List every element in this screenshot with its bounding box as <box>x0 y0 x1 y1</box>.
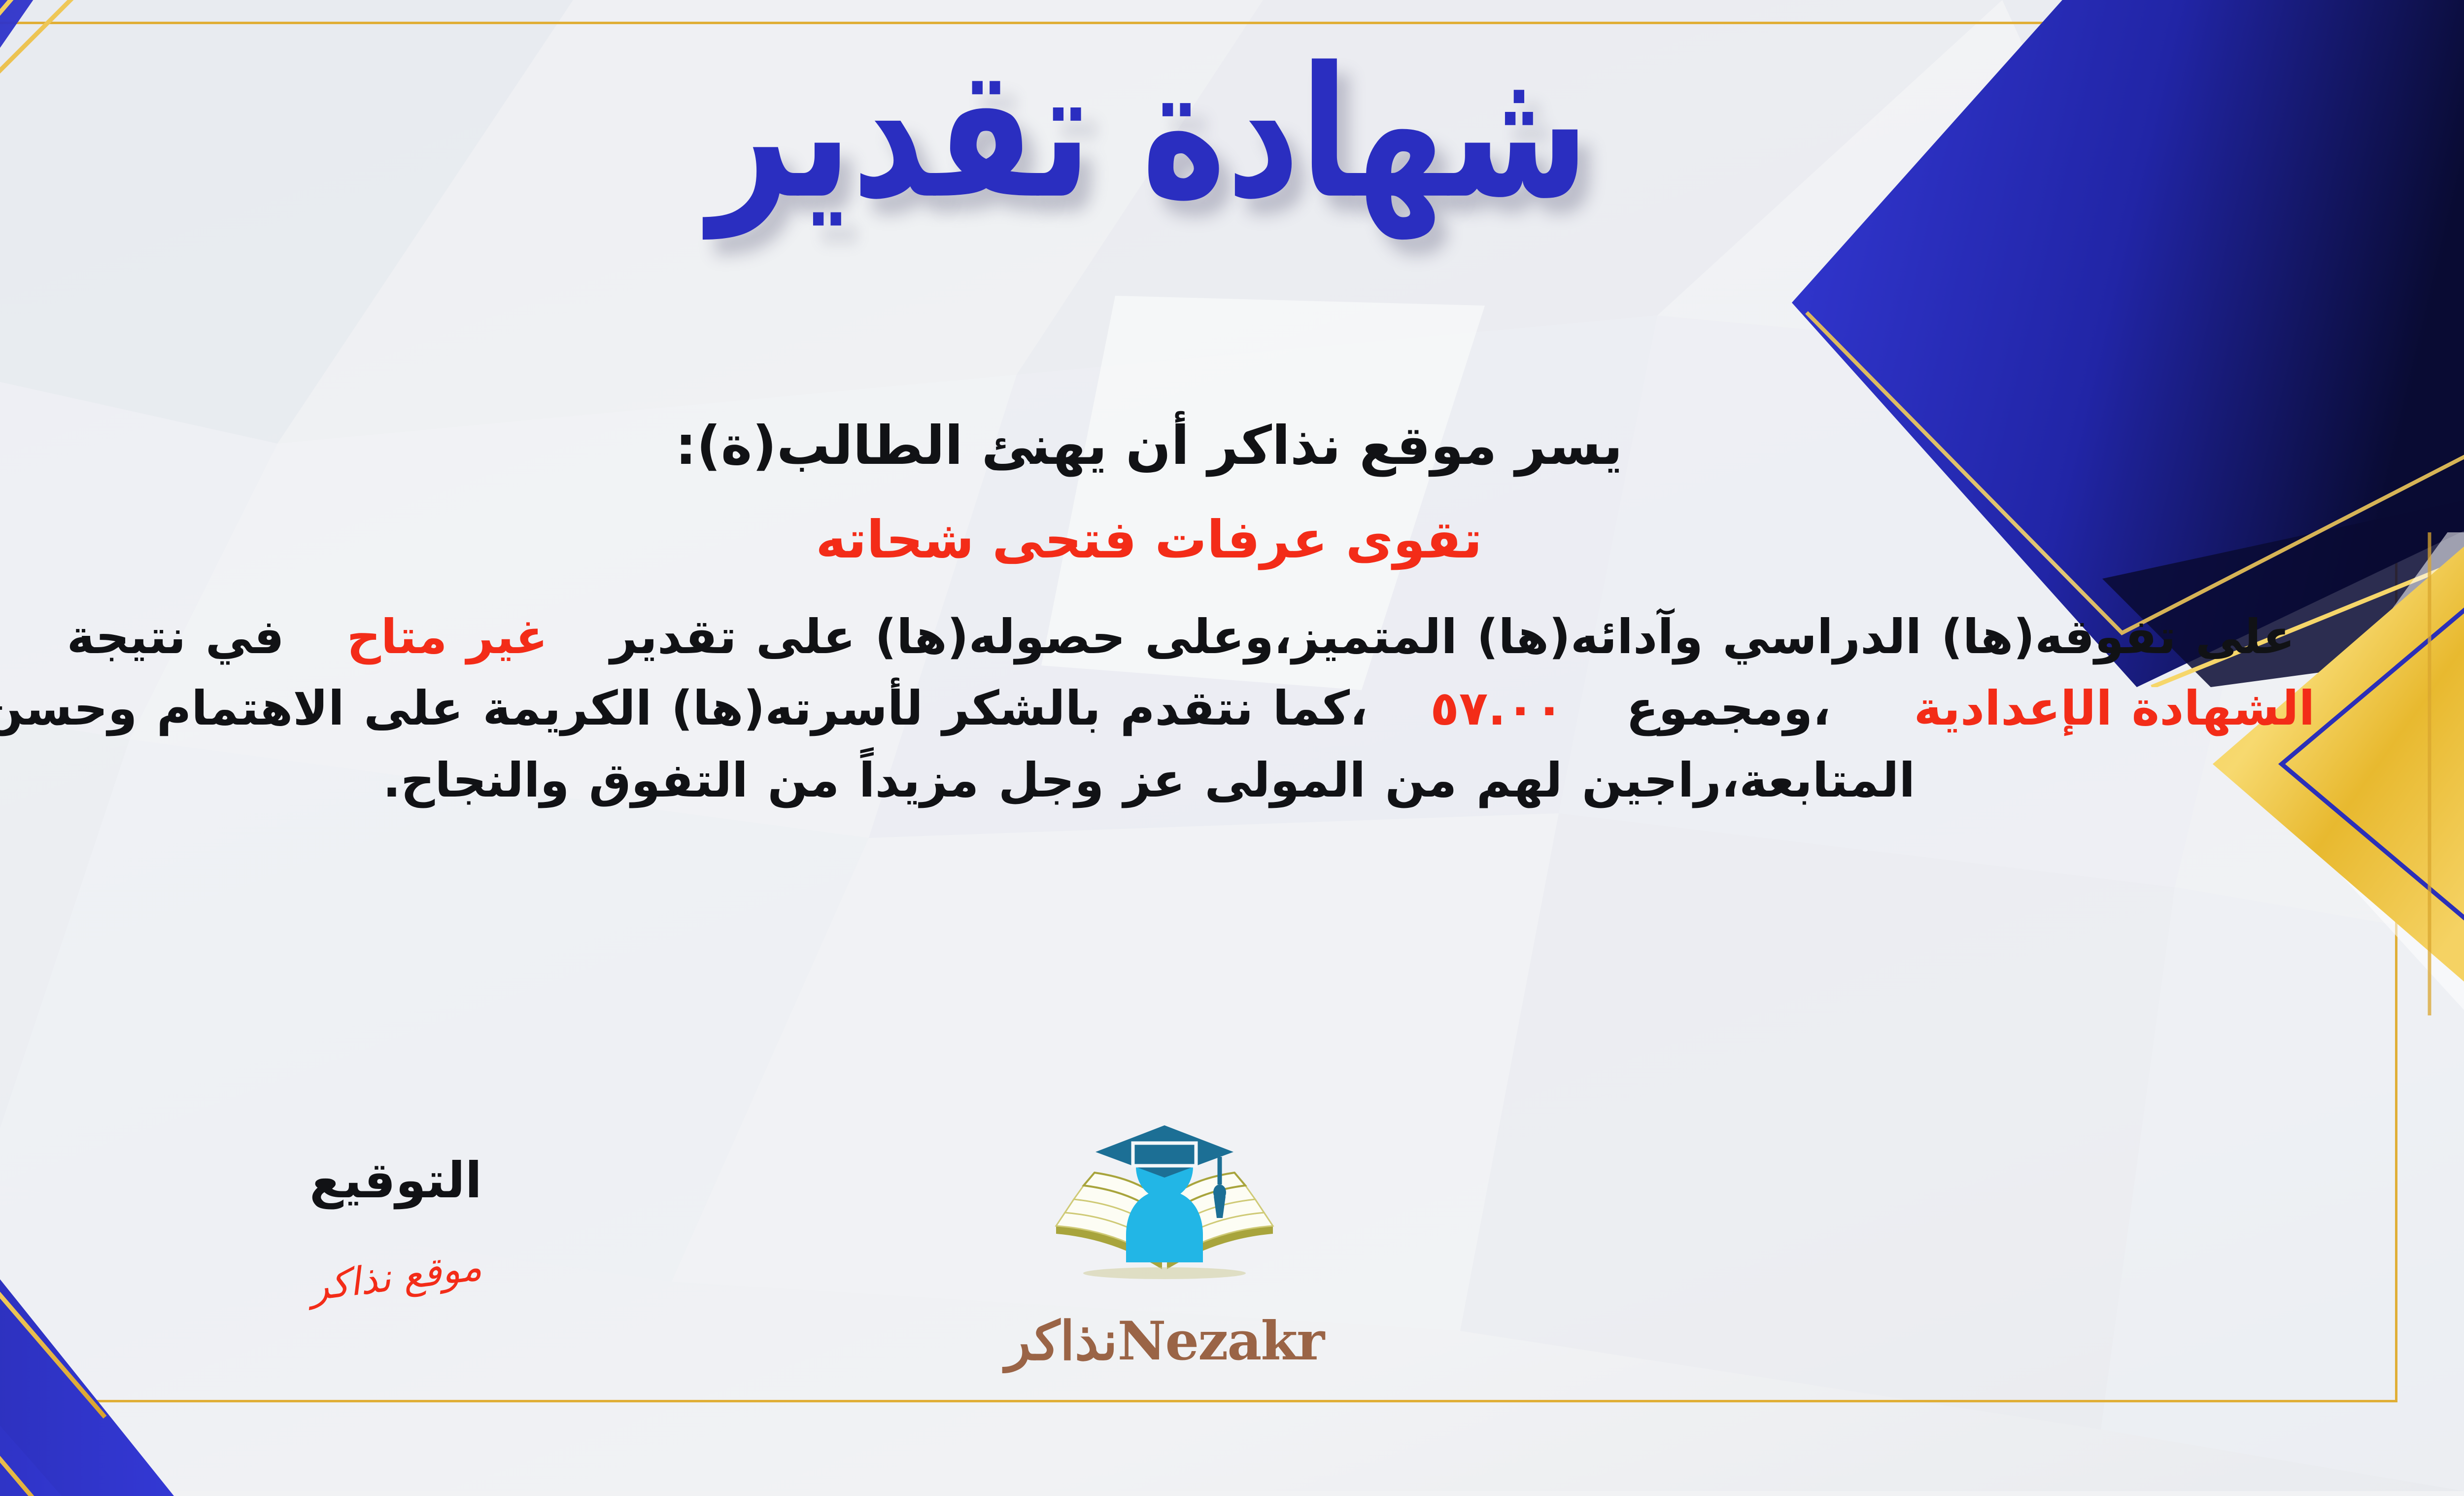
achievement-paragraph: على تفوقه(ها) الدراسي وآدائه(ها) المتميز… <box>0 601 2380 817</box>
logo-arabic-text: نذاكر <box>1005 1310 1118 1372</box>
signature-label: التوقيع <box>208 1153 583 1208</box>
paragraph-part-3: ،ومجموع <box>1626 681 1831 736</box>
certificate-body: يسر موقع نذاكر أن يهنئ الطالب(ة): تقوى ع… <box>0 409 2380 817</box>
logo-latin-text: Nezakr <box>1118 1310 1324 1372</box>
certificate-name: الشهادة الإعدادية <box>1914 681 2315 736</box>
graduate-book-logo-icon <box>1036 1121 1293 1319</box>
signature-mark: موقع نذاكر <box>207 1232 584 1322</box>
paragraph-part-2: في نتيجة <box>67 609 284 664</box>
brand-logo: Nezakrنذاكر <box>943 1121 1386 1368</box>
paragraph-part-1: على تفوقه(ها) الدراسي وآدائه(ها) المتميز… <box>610 609 2295 664</box>
logo-wordmark: Nezakrنذاكر <box>943 1315 1386 1368</box>
page-title: شهادة تقدير <box>0 30 2425 237</box>
student-name: تقوى عرفات فتحى شحاته <box>0 506 2380 574</box>
signature-block: التوقيع موقع نذاكر <box>208 1153 583 1299</box>
total-score: ٥٧.٠٠ <box>1430 681 1564 736</box>
greeting-line: يسر موقع نذاكر أن يهنئ الطالب(ة): <box>0 409 2380 483</box>
grade-value: غير متاح <box>347 609 548 664</box>
certificate-content: شهادة تقدير يسر موقع نذاكر أن يهنئ الطال… <box>0 0 2464 1491</box>
